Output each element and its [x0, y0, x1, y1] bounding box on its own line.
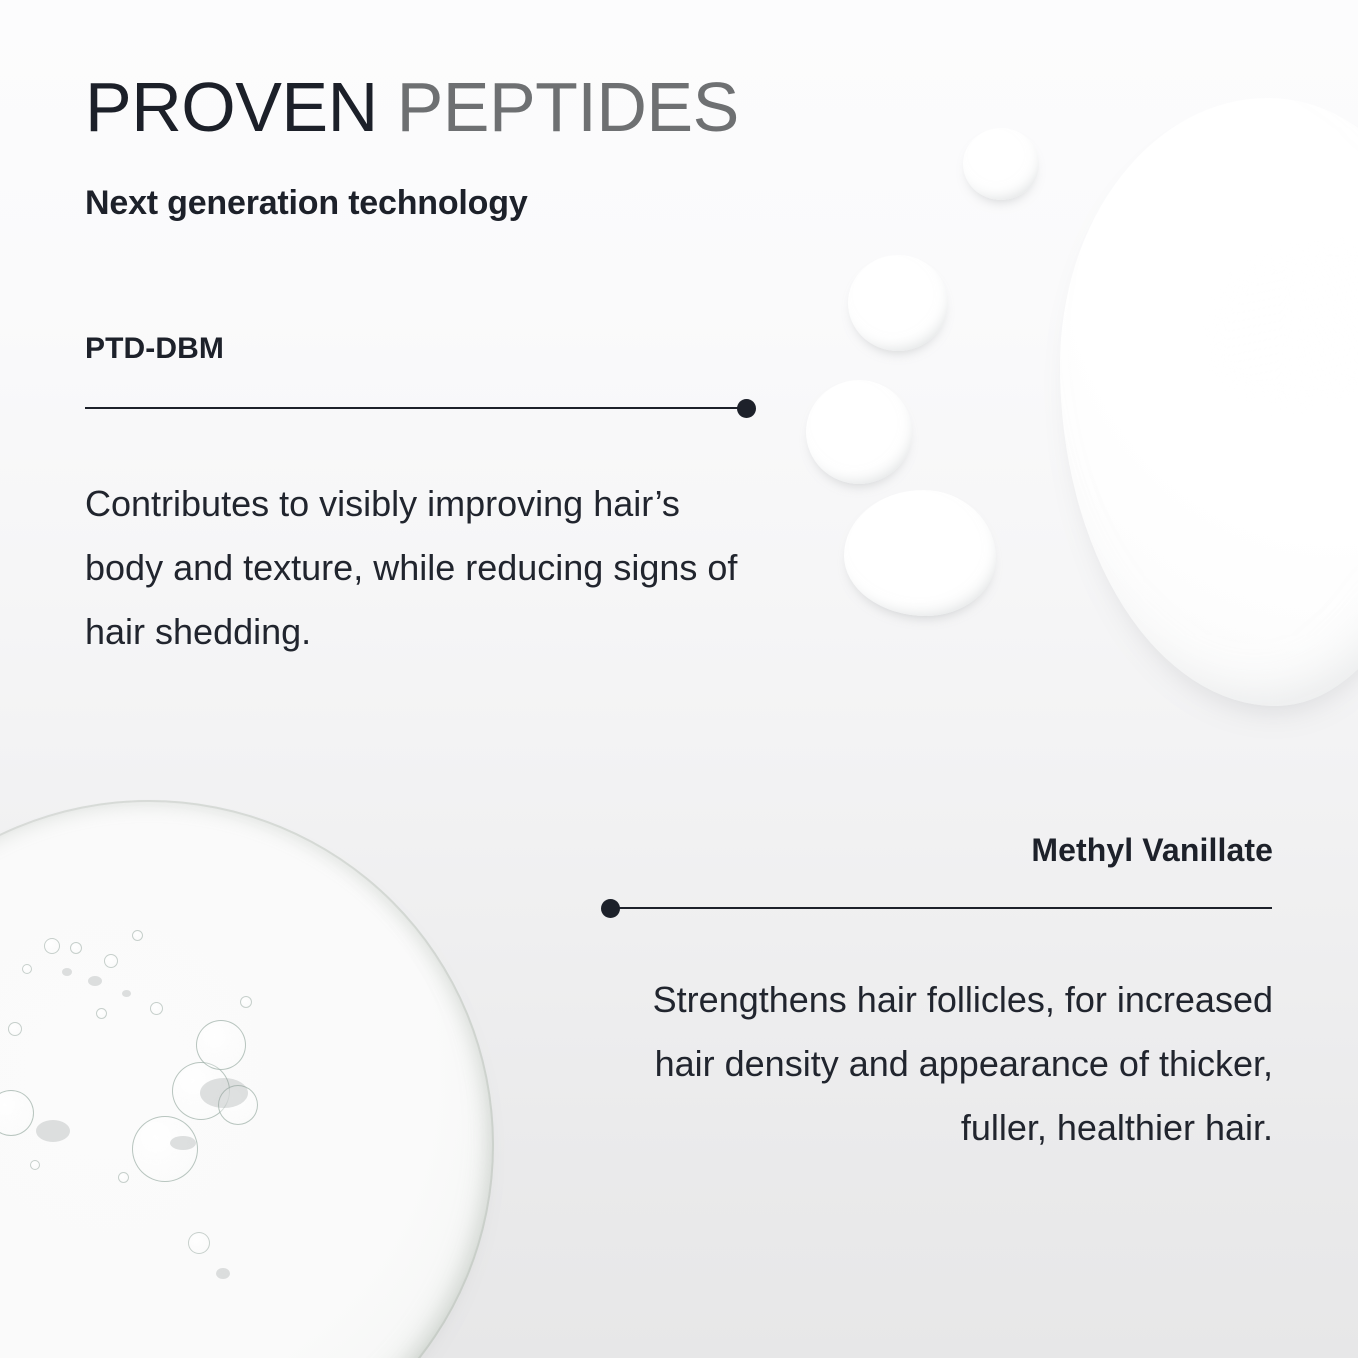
headline-word-primary: PROVEN: [85, 68, 378, 146]
product-ingredient-infographic: PROVEN PEPTIDES Next generation technolo…: [0, 0, 1358, 1358]
page-title: PROVEN PEPTIDES: [85, 72, 739, 142]
content-layer: PROVEN PEPTIDES Next generation technolo…: [0, 0, 1358, 1358]
ingredient-description-ptd-dbm: Contributes to visibly improving hair’s …: [85, 472, 765, 664]
ingredient-title-methyl-vanillate: Methyl Vanillate: [1031, 832, 1273, 869]
ingredient-rule-methyl-vanillate: [610, 907, 1272, 909]
ingredient-rule-dot-ptd-dbm: [737, 399, 756, 418]
ingredient-rule-dot-methyl-vanillate: [601, 899, 620, 918]
headline-word-secondary: PEPTIDES: [397, 68, 739, 146]
ingredient-description-methyl-vanillate: Strengthens hair follicles, for increase…: [583, 968, 1273, 1160]
ingredient-title-ptd-dbm: PTD-DBM: [85, 332, 224, 366]
ingredient-rule-ptd-dbm: [85, 407, 755, 409]
page-subtitle: Next generation technology: [85, 184, 528, 223]
